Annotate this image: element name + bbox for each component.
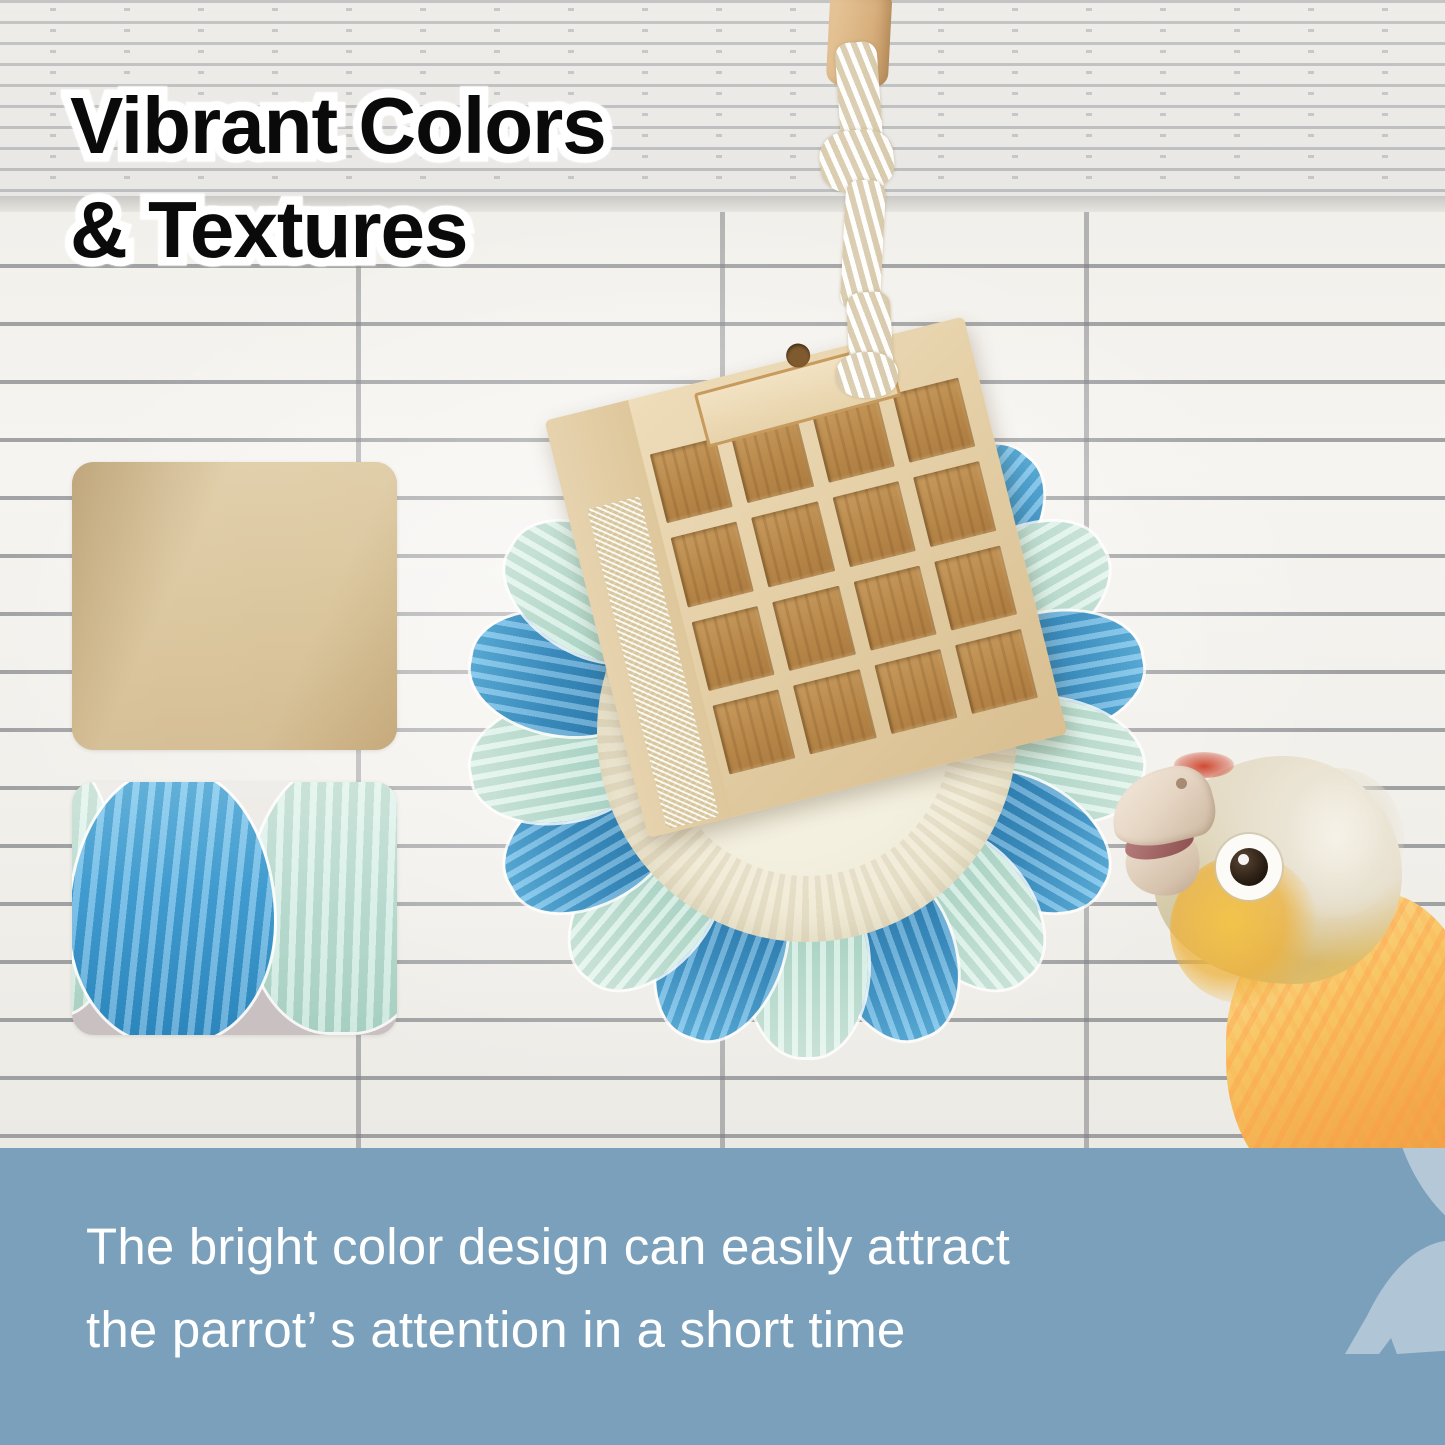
block-cell-6 [751, 501, 834, 587]
caption-banner: The bright color design can easily attra… [0, 1148, 1445, 1445]
block-cell-11 [853, 565, 936, 651]
wood-shading-overlay [72, 462, 397, 750]
caption-line-2: the parrot’ s attention in a short time [86, 1289, 1205, 1372]
parrot-eye [1230, 848, 1268, 886]
caption-line-1: The bright color design can easily attra… [86, 1206, 1205, 1289]
headline: Vibrant Colors & Textures [70, 86, 606, 270]
headline-line-2: & Textures [70, 190, 606, 270]
rope-knot-lower [836, 352, 898, 398]
headline-line-1: Vibrant Colors [70, 86, 606, 166]
shell-petal-blue-center [72, 782, 274, 1035]
hanging-parrot-chew-toy [462, 352, 1152, 1112]
product-marketing-image: Vibrant Colors & Textures [0, 0, 1445, 1445]
inset-wood-lattice-closeup [72, 462, 397, 750]
inset-shell-petal-closeup [72, 782, 397, 1035]
parrot-eye-highlight [1238, 854, 1249, 865]
pineapple-conure-parrot [1118, 742, 1445, 1162]
block-cell-10 [772, 585, 855, 671]
banner-decorative-bird-shape [1305, 1148, 1445, 1374]
block-cell-7 [832, 481, 915, 567]
banner-caption: The bright color design can easily attra… [86, 1206, 1205, 1371]
parrot-nostril [1176, 778, 1187, 789]
